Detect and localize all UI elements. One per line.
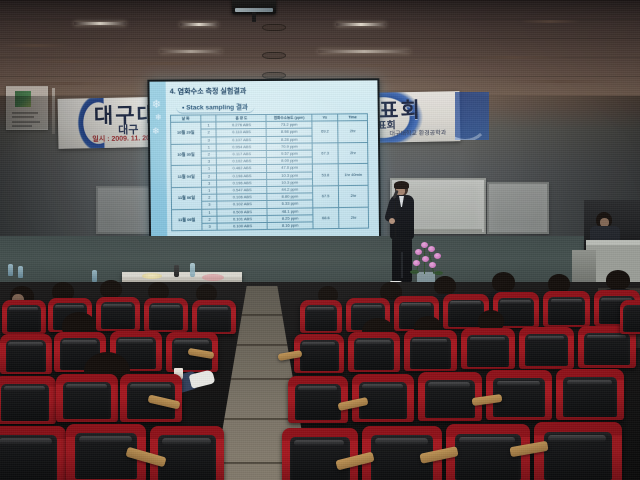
bottle-water bbox=[190, 263, 195, 277]
leaf bbox=[434, 271, 443, 275]
seat bbox=[404, 330, 457, 371]
presenter-hair bbox=[394, 181, 409, 189]
whiteboard-left bbox=[96, 186, 152, 234]
cell-vs: 67.5 bbox=[313, 186, 339, 208]
cell-time: 1hr 40min bbox=[338, 164, 368, 186]
cell-time: 2hr bbox=[339, 185, 369, 207]
water-bottle bbox=[8, 264, 13, 276]
slide-title: 4. 염화수소 측정 실험결과 bbox=[170, 86, 247, 97]
seat bbox=[519, 327, 574, 369]
seat bbox=[300, 300, 342, 333]
seat bbox=[0, 426, 66, 480]
cell-date: 11월 04일 bbox=[171, 166, 201, 188]
cell-date: 11월 06일 bbox=[171, 187, 201, 209]
seat bbox=[0, 376, 56, 424]
bottle-dark bbox=[174, 265, 179, 277]
cell-time: 2hr bbox=[338, 121, 368, 143]
seat bbox=[534, 422, 622, 480]
orchid-bloom bbox=[413, 260, 420, 266]
seat bbox=[348, 332, 400, 372]
water-bottle bbox=[18, 266, 23, 278]
auditorium-photo: 대구대 발표회 대구 발표회 일시 : 2009. 11. 20(금) 대구대학… bbox=[0, 0, 640, 480]
table-body: 10월 29일10.276 ABS73.2 ppm69.22hr20.110 A… bbox=[171, 121, 369, 231]
orchid-bloom bbox=[434, 253, 441, 259]
snowflake-icon: ❄ bbox=[152, 100, 161, 111]
cell-time: 2hr bbox=[338, 142, 368, 164]
tray bbox=[202, 274, 224, 281]
cell-vs: 67.3 bbox=[312, 143, 338, 165]
cell-date: 10월 30일 bbox=[171, 144, 201, 166]
slide-bullet: • Stack sampling 결과 bbox=[176, 100, 254, 114]
cell-concentration: 8.16 ppm bbox=[267, 222, 312, 230]
leaf bbox=[410, 270, 419, 274]
whiteboard-right bbox=[487, 182, 549, 234]
seat bbox=[461, 328, 515, 369]
seat bbox=[56, 374, 118, 422]
cell-index: 3 bbox=[202, 223, 218, 230]
seat bbox=[282, 428, 358, 480]
seat bbox=[192, 300, 236, 334]
cell-vs: 69.2 bbox=[312, 121, 338, 143]
snowflake-icon: ❄ bbox=[152, 127, 160, 136]
presenter-leg-split bbox=[401, 252, 403, 278]
cell-vs: 53.8 bbox=[312, 164, 338, 186]
seat bbox=[96, 297, 140, 331]
orchid-bloom bbox=[421, 242, 428, 248]
seat bbox=[0, 334, 52, 374]
seat bbox=[620, 300, 640, 334]
seat bbox=[2, 300, 46, 334]
seat bbox=[556, 369, 624, 420]
water-bottle bbox=[92, 270, 97, 282]
orchid-bloom bbox=[429, 262, 436, 268]
orchid-bloom bbox=[415, 249, 422, 255]
snack-plate bbox=[142, 273, 162, 279]
presentation-slide: ❄ ❄ ❄ 4. 염화수소 측정 실험결과 • Stack sampling 결… bbox=[149, 80, 379, 250]
orchid-bloom bbox=[422, 256, 429, 262]
seat bbox=[418, 372, 482, 421]
slide-decoration-bar: ❄ ❄ ❄ bbox=[149, 82, 167, 251]
cell-absorbance: 0.100 ABS bbox=[217, 223, 267, 231]
seat bbox=[288, 376, 348, 423]
snowflake-icon: ❄ bbox=[155, 114, 162, 122]
seat bbox=[144, 298, 188, 332]
cell-date: 11월 09일 bbox=[172, 209, 202, 231]
seat bbox=[150, 426, 224, 480]
slide-data-table: 날 짜 흡 광 도 염화수소농도 (ppm) Vs Time 10월 29일10… bbox=[170, 113, 369, 231]
orchid-bloom bbox=[428, 246, 435, 252]
cell-time: 2hr bbox=[339, 207, 369, 229]
cell-date: 10월 29일 bbox=[171, 122, 201, 144]
podium-side-panel bbox=[572, 250, 596, 286]
cell-vs: 68.6 bbox=[313, 207, 339, 229]
seat bbox=[543, 291, 590, 327]
projection-screen: ❄ ❄ ❄ 4. 염화수소 측정 실험결과 • Stack sampling 결… bbox=[147, 78, 381, 252]
